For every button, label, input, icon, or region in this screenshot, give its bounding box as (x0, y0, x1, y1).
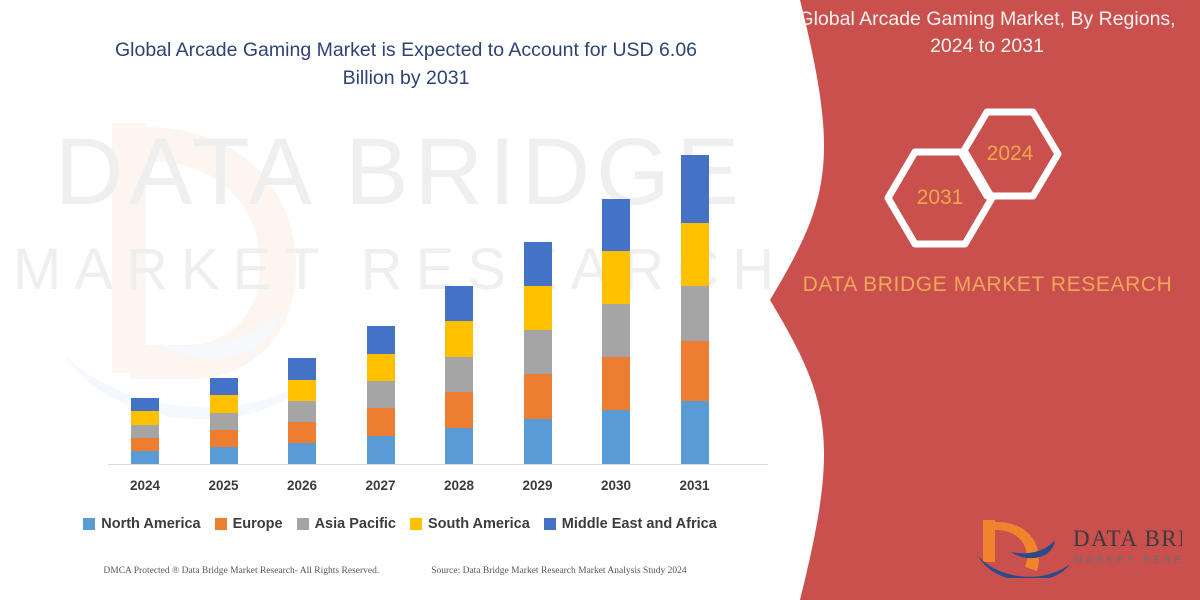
legend-swatch-icon (83, 518, 95, 530)
x-axis-label-2030: 2030 (577, 478, 655, 493)
dbmr-logo: DATA BRIDGE MARKET RESEARCH (977, 516, 1182, 578)
dbmr-logo-icon: DATA BRIDGE MARKET RESEARCH (977, 516, 1182, 578)
bar-segment-2030-europe (602, 357, 630, 410)
infographic-canvas: DATA BRIDGE MARKET RESEARCH Global Arcad… (0, 0, 1200, 600)
bar-segment-2025-north-america (210, 447, 238, 464)
bar-2026 (288, 358, 316, 464)
legend-item-north-america[interactable]: North America (83, 516, 200, 532)
dbmr-logo-name: DATA BRIDGE (1073, 526, 1182, 551)
bar-segment-2029-south-america (524, 286, 552, 330)
bar-segment-2025-south-america (210, 395, 238, 413)
chart-plot-area: 20242025202620272028202920302031 (0, 0, 800, 600)
legend-label: South America (428, 516, 530, 532)
x-axis-label-2028: 2028 (420, 478, 498, 493)
legend-item-middle-east-and-africa[interactable]: Middle East and Africa (544, 516, 717, 532)
bar-segment-2031-europe (681, 341, 709, 401)
x-axis-label-2025: 2025 (185, 478, 263, 493)
bar-segment-2027-europe (367, 408, 395, 436)
bar-segment-2029-asia-pacific (524, 330, 552, 374)
bar-2029 (524, 242, 552, 464)
x-axis-label-2026: 2026 (263, 478, 341, 493)
legend-swatch-icon (297, 518, 309, 530)
bar-segment-2028-north-america (445, 428, 473, 464)
bar-segment-2027-south-america (367, 354, 395, 381)
legend-label: Middle East and Africa (562, 516, 717, 532)
bar-segment-2030-asia-pacific (602, 304, 630, 357)
x-axis-label-2024: 2024 (106, 478, 184, 493)
bar-segment-2028-south-america (445, 321, 473, 357)
legend-item-south-america[interactable]: South America (410, 516, 530, 532)
bar-segment-2029-europe (524, 374, 552, 419)
bar-segment-2030-north-america (602, 410, 630, 464)
x-axis-label-2031: 2031 (656, 478, 734, 493)
footer-source: Source: Data Bridge Market Research Mark… (431, 566, 686, 576)
bar-segment-2031-south-america (681, 223, 709, 286)
bar-2030 (602, 199, 630, 464)
legend-swatch-icon (544, 518, 556, 530)
legend-item-asia-pacific[interactable]: Asia Pacific (297, 516, 396, 532)
bar-segment-2031-middle-east-and-africa (681, 155, 709, 223)
bar-segment-2025-asia-pacific (210, 413, 238, 430)
bar-segment-2029-north-america (524, 419, 552, 464)
x-axis-label-2029: 2029 (499, 478, 577, 493)
footer: DMCA Protected ® Data Bridge Market Rese… (0, 566, 790, 576)
hexagon-badges: 2031 2024 (860, 106, 1110, 226)
hex-badge-2024-label: 2024 (956, 106, 1064, 202)
bar-segment-2030-middle-east-and-africa (602, 199, 630, 251)
chart-legend: North AmericaEuropeAsia PacificSouth Ame… (0, 516, 800, 532)
bar-2024 (131, 398, 159, 464)
bar-segment-2026-europe (288, 422, 316, 443)
legend-label: North America (101, 516, 200, 532)
bar-2027 (367, 326, 395, 464)
right-panel-content: Global Arcade Gaming Market, By Regions,… (770, 0, 1200, 600)
bar-segment-2027-middle-east-and-africa (367, 326, 395, 354)
bar-segment-2024-europe (131, 438, 159, 451)
right-panel-title: Global Arcade Gaming Market, By Regions,… (792, 6, 1182, 60)
bar-segment-2025-middle-east-and-africa (210, 378, 238, 395)
bar-segment-2024-south-america (131, 411, 159, 425)
bar-segment-2026-north-america (288, 443, 316, 464)
bar-2025 (210, 378, 238, 464)
bar-segment-2025-europe (210, 430, 238, 447)
legend-label: Asia Pacific (315, 516, 396, 532)
bar-series-group (0, 0, 800, 600)
bar-segment-2031-north-america (681, 401, 709, 464)
x-axis-label-2027: 2027 (342, 478, 420, 493)
footer-copyright: DMCA Protected ® Data Bridge Market Rese… (103, 566, 379, 576)
bar-segment-2026-south-america (288, 380, 316, 401)
bar-segment-2026-middle-east-and-africa (288, 358, 316, 380)
bar-segment-2027-asia-pacific (367, 381, 395, 408)
bar-segment-2029-middle-east-and-africa (524, 242, 552, 286)
legend-swatch-icon (215, 518, 227, 530)
bar-2028 (445, 286, 473, 464)
bar-segment-2030-south-america (602, 251, 630, 304)
legend-swatch-icon (410, 518, 422, 530)
bar-segment-2031-asia-pacific (681, 286, 709, 341)
bar-segment-2027-north-america (367, 436, 395, 464)
bar-2031 (681, 155, 709, 464)
legend-item-europe[interactable]: Europe (215, 516, 283, 532)
bar-segment-2024-middle-east-and-africa (131, 398, 159, 411)
legend-label: Europe (233, 516, 283, 532)
right-panel-brand: DATA BRIDGE MARKET RESEARCH (795, 270, 1180, 300)
hex-badge-2024: 2024 (956, 106, 1064, 202)
bar-segment-2028-middle-east-and-africa (445, 286, 473, 321)
bar-segment-2024-north-america (131, 451, 159, 464)
bar-segment-2024-asia-pacific (131, 425, 159, 438)
bar-segment-2028-asia-pacific (445, 357, 473, 392)
bar-segment-2026-asia-pacific (288, 401, 316, 422)
bar-segment-2028-europe (445, 392, 473, 428)
dbmr-logo-tagline: MARKET RESEARCH (1074, 555, 1182, 566)
